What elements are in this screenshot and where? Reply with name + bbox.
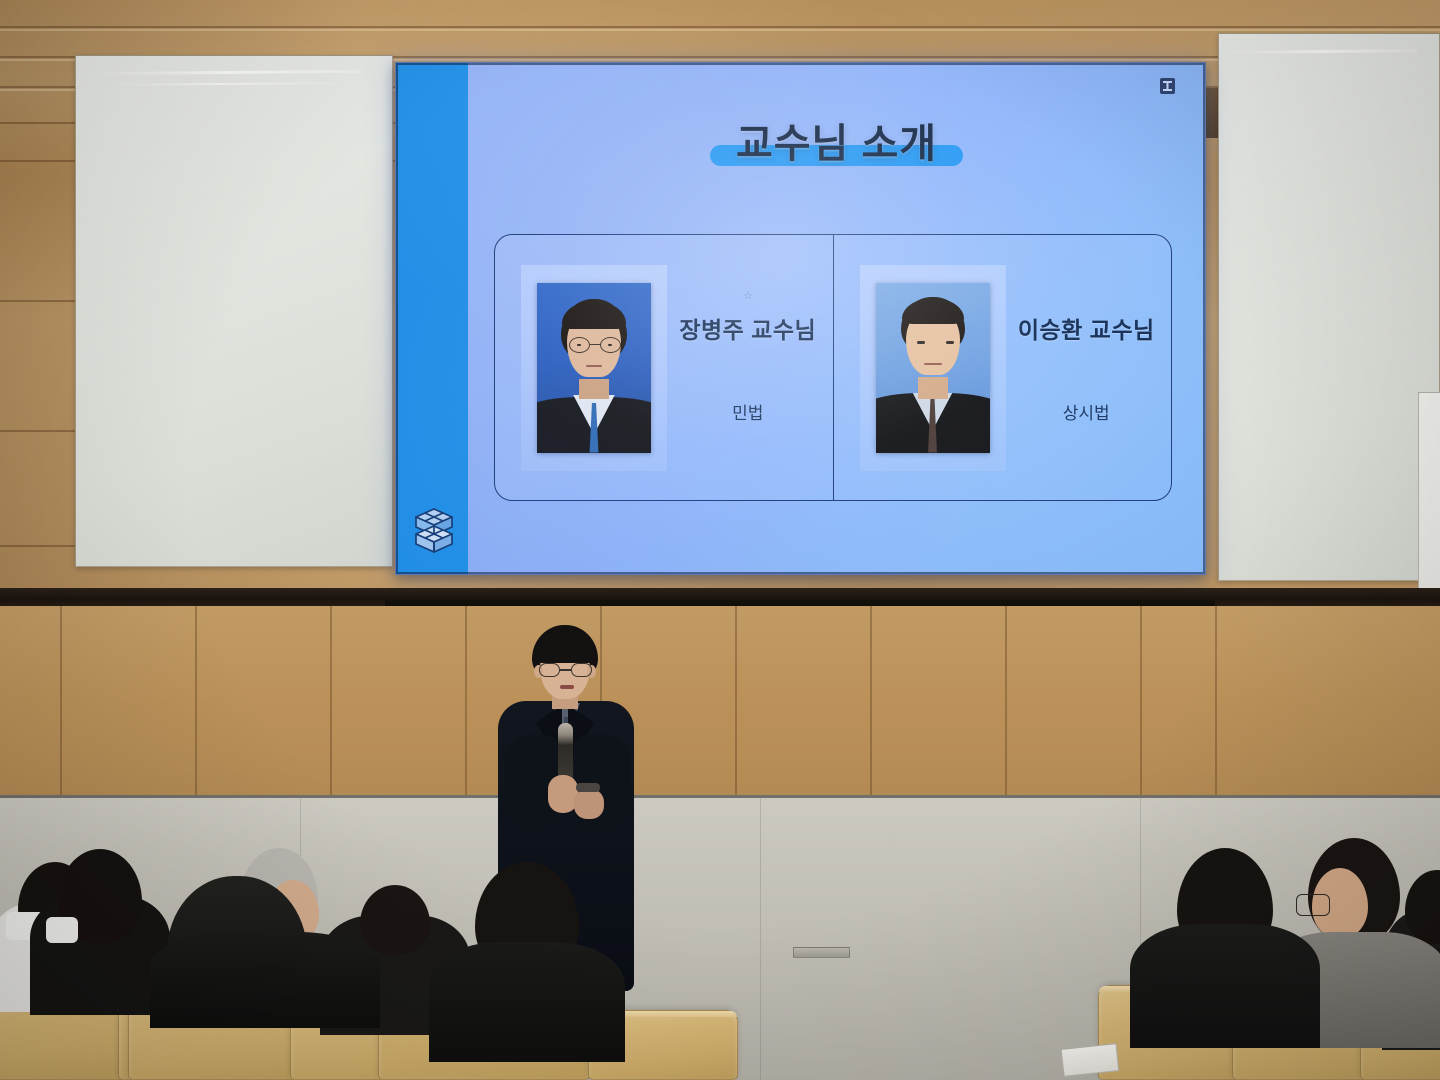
professor-field-0: 민법: [667, 399, 829, 424]
professor-mark-0: ☆: [743, 289, 753, 302]
professor-meta-1: 이승환 교수님 상시법: [1006, 311, 1168, 424]
professor-meta-0: ☆ 장병주 교수님 민법: [667, 311, 829, 424]
projection-screen: 교수님 소개: [395, 62, 1206, 575]
professor-card: ☆ 장병주 교수님 민법: [494, 234, 1172, 501]
professor-entry-1: 이승환 교수님 상시법: [833, 235, 1172, 500]
floor-vent: [793, 947, 850, 958]
floor-wall-joint: [0, 795, 1440, 798]
audience-member: [150, 848, 380, 1028]
wristwatch: [576, 783, 600, 792]
slide-title: 교수님 소개: [736, 111, 937, 169]
paper-on-seat: [1061, 1043, 1120, 1077]
logo-mark-icon: [1160, 78, 1175, 94]
slide-sidebar: [396, 63, 468, 574]
professor-photo-0: [537, 283, 651, 453]
photo-frame: [860, 265, 1006, 471]
lower-wood-panelling: [0, 606, 1440, 800]
audience-member: [432, 862, 622, 1062]
lecture-hall-photo: 교수님 소개: [0, 0, 1440, 1080]
professor-name-0: 장병주 교수님: [667, 311, 829, 345]
professor-photo-1: [876, 283, 990, 453]
slide-title-block: 교수님 소개: [468, 111, 1205, 169]
audience-member: [1140, 848, 1310, 1048]
photo-frame: [521, 265, 667, 471]
presentation-slide: 교수님 소개: [396, 63, 1205, 574]
professor-entry-0: ☆ 장병주 교수님 민법: [495, 235, 833, 500]
cube-logo-icon: [412, 506, 456, 554]
right-whiteboard-panel: [1218, 33, 1440, 581]
professor-field-1: 상시법: [1006, 399, 1168, 424]
left-whiteboard-panel: [75, 55, 393, 567]
professor-name-1: 이승환 교수님: [1006, 311, 1168, 345]
audience-member: [40, 845, 160, 1015]
